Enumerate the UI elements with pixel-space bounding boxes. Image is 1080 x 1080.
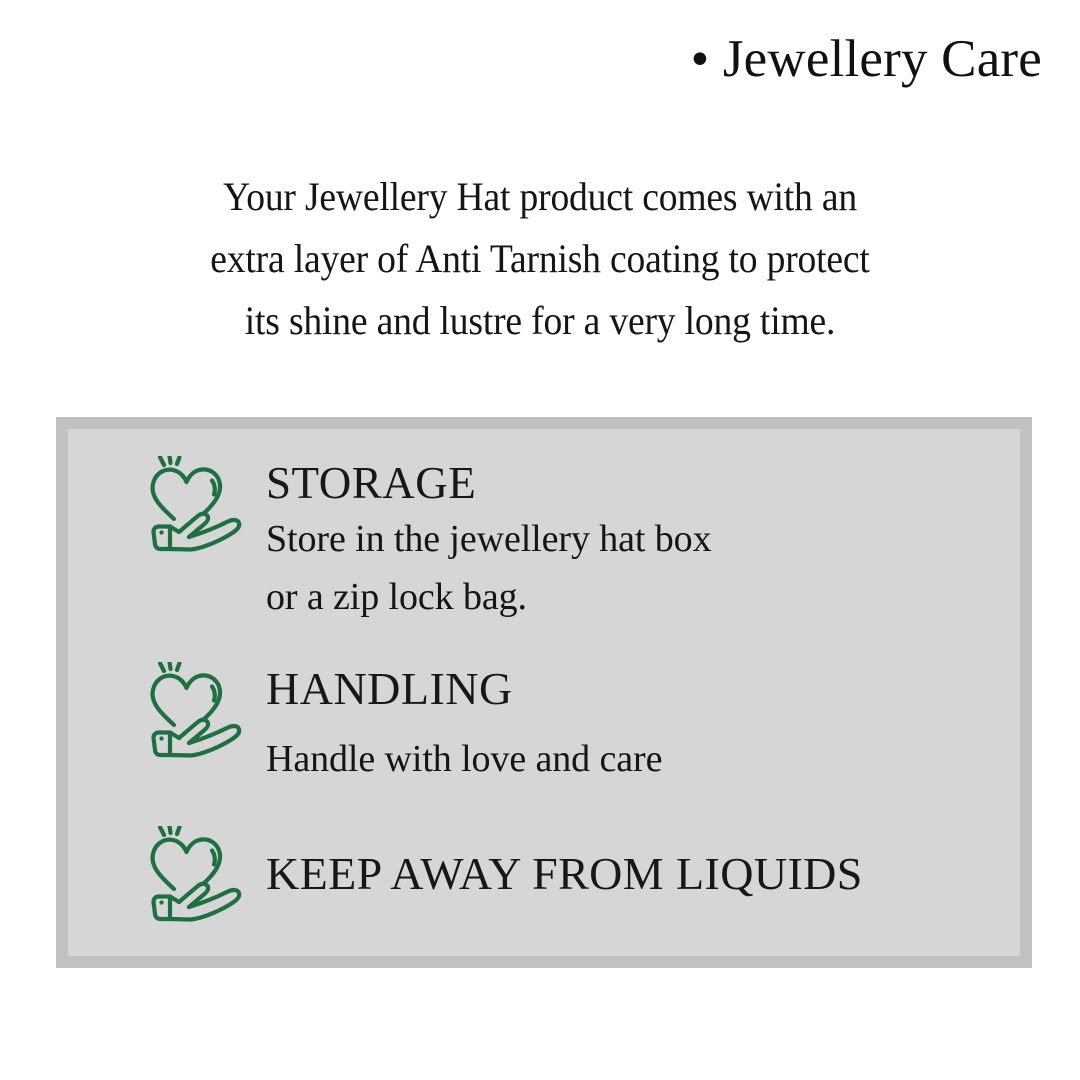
- intro-line-1: Your Jewellery Hat product comes with an: [89, 166, 991, 228]
- care-item-text: KEEP AWAY FROM LIQUIDS: [266, 849, 863, 899]
- care-item-text: HANDLING Handle with love and care: [266, 662, 662, 788]
- care-item-heading: HANDLING: [266, 664, 662, 714]
- intro-line-3: its shine and lustre for a very long tim…: [89, 290, 991, 352]
- intro-line-2: extra layer of Anti Tarnish coating to p…: [89, 228, 991, 290]
- intro-paragraph: Your Jewellery Hat product comes with an…: [60, 166, 1020, 352]
- jewellery-care-page: • Jewellery Care Your Jewellery Hat prod…: [0, 0, 1080, 1080]
- care-item-heading: STORAGE: [266, 458, 712, 508]
- care-item-line-2: or a zip lock bag.: [266, 568, 712, 626]
- care-card-inner: STORAGE Store in the jewellery hat box o…: [68, 429, 1020, 956]
- page-title: • Jewellery Care: [691, 30, 1042, 88]
- care-item-liquids: KEEP AWAY FROM LIQUIDS: [146, 826, 863, 922]
- page-title-row: • Jewellery Care: [0, 30, 1042, 88]
- care-item-heading: KEEP AWAY FROM LIQUIDS: [266, 849, 863, 899]
- care-item-line-1: Store in the jewellery hat box: [266, 510, 712, 568]
- heart-in-hand-icon: [146, 662, 246, 758]
- heart-in-hand-icon: [146, 826, 246, 922]
- care-instructions-card: STORAGE Store in the jewellery hat box o…: [56, 417, 1032, 968]
- care-item-storage: STORAGE Store in the jewellery hat box o…: [146, 456, 712, 626]
- care-item-text: STORAGE Store in the jewellery hat box o…: [266, 456, 712, 626]
- care-item-line-1: Handle with love and care: [266, 730, 662, 788]
- heart-in-hand-icon: [146, 456, 246, 552]
- care-item-handling: HANDLING Handle with love and care: [146, 662, 662, 788]
